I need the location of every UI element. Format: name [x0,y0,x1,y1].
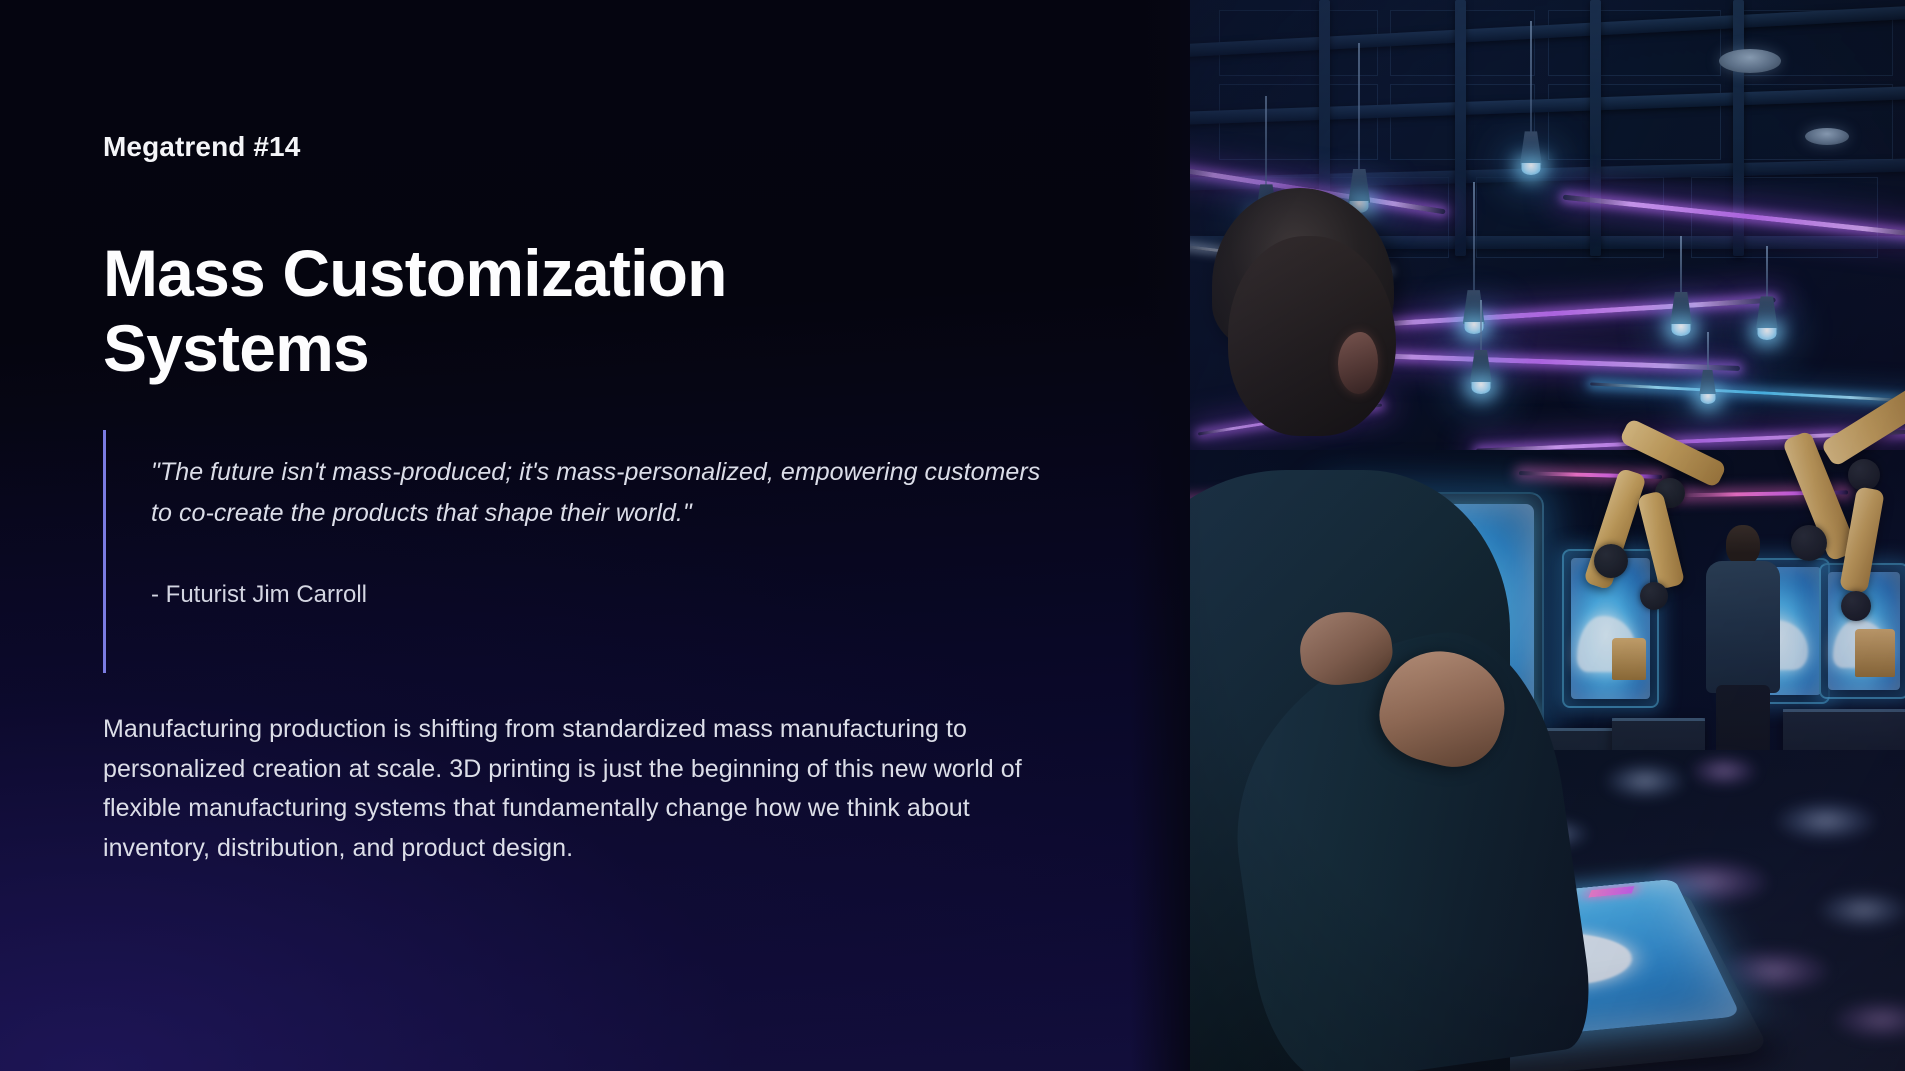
quote-attribution: - Futurist Jim Carroll [151,533,1063,612]
body-paragraph: Manufacturing production is shifting fro… [103,710,1048,868]
slide-root: Megatrend #14 Mass Customization Systems… [0,0,1905,1071]
floor-reflection [1819,891,1905,929]
text-panel: Megatrend #14 Mass Customization Systems… [0,0,1190,1071]
page-title: Mass Customization Systems [103,236,903,385]
pull-quote-block: "The future isn't mass-produced; it's ma… [103,430,1063,673]
foreground-customer [1190,0,1640,1071]
floor-reflection [1776,801,1876,841]
pendant-lamp [1669,236,1693,396]
pendant-lamp [1698,332,1718,462]
quote-text: "The future isn't mass-produced; it's ma… [151,430,1063,533]
text-content: Megatrend #14 Mass Customization Systems… [103,0,1093,1071]
factory-photo: 678 [1190,0,1905,1071]
customer-ear [1338,332,1378,394]
factory-scene: 678 [1190,0,1905,1071]
floor-reflection [1834,1000,1905,1040]
pendant-lamp [1755,246,1779,406]
megatrend-eyebrow-label: Megatrend #14 [103,130,300,164]
customer-head [1228,236,1396,436]
ceiling-disc-light [1805,128,1849,145]
